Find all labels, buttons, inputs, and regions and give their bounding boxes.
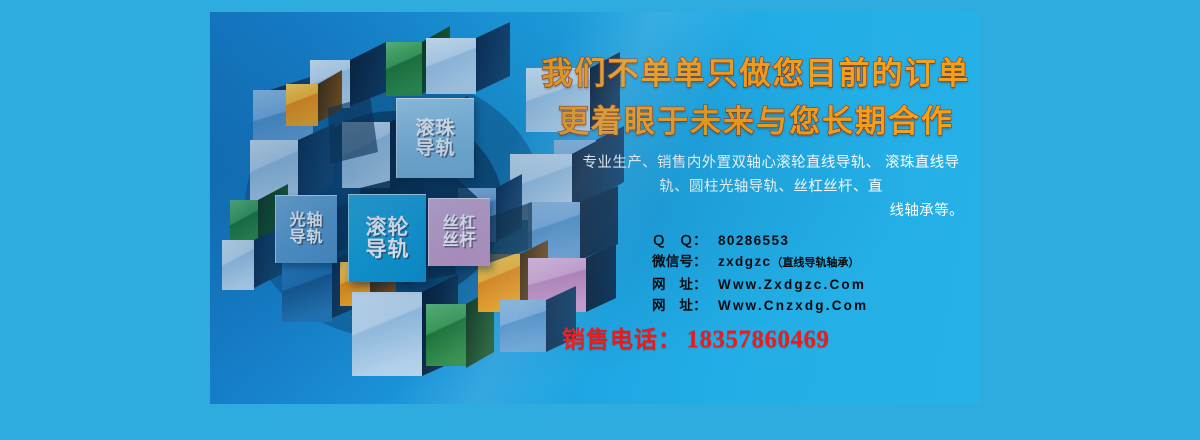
tile-label-line2: 导轨 [366, 239, 410, 261]
tile-label-line1: 滚轮 [366, 217, 410, 239]
product-tile-sigang-sigan[interactable]: 丝杠 丝杆 [428, 198, 490, 266]
product-tile-gunzhu-daogui[interactable]: 滚珠 导轨 [396, 98, 474, 178]
contact-row-wechat: 微信号： zxdgzc （直线导轨轴承） [652, 251, 868, 274]
contact-label: 网 址： [652, 274, 718, 295]
contact-row-website-1: 网 址： Www.Zxdgzc.Com [652, 274, 868, 295]
sales-phone[interactable]: 销售电话： 18357860469 [562, 320, 829, 354]
tile-label-line1: 光轴 [289, 213, 323, 230]
tile-label-line2: 导轨 [415, 139, 455, 159]
website-url-2[interactable]: Www.Cnzxdg.Com [718, 295, 868, 316]
tile-label-line2: 丝杆 [442, 233, 476, 250]
sales-phone-label: 销售电话： [562, 326, 682, 352]
contact-label: 网 址： [652, 295, 718, 316]
description-line-3: 线轴承等。 [578, 200, 964, 224]
headline-line-1: 我们不单单只做您目前的订单 [540, 48, 972, 93]
qq-number[interactable]: 80286553 [718, 230, 789, 251]
contact-info-block: Ｑ Ｑ： 80286553 微信号： zxdgzc （直线导轨轴承） 网 址： … [652, 230, 868, 316]
wechat-note: （直线导轨轴承） [771, 253, 859, 274]
sales-phone-number[interactable]: 18357860469 [686, 326, 829, 353]
wechat-id[interactable]: zxdgzc [718, 251, 771, 272]
tile-label-line1: 丝杠 [442, 216, 476, 233]
product-tile-gunlun-daogui[interactable]: 滚轮 导轨 [348, 194, 426, 282]
contact-row-website-2: 网 址： Www.Cnzxdg.Com [652, 295, 868, 316]
contact-label: 微信号： [652, 251, 718, 272]
description-line-1: 专业生产、销售内外置双轴心滚轮直线导轨、 [583, 155, 881, 171]
contact-label: Ｑ Ｑ： [652, 230, 718, 251]
website-url-1[interactable]: Www.Zxdgzc.Com [718, 274, 866, 295]
banner-copy: 我们不单单只做您目前的订单 更着眼于未来与您长期合作 专业生产、销售内外置双轴心… [540, 12, 980, 404]
description-text: 专业生产、销售内外置双轴心滚轮直线导轨、 滚珠直线导轨、圆柱光轴导轨、丝杠丝杆、… [578, 152, 964, 224]
product-tile-guangzhou-daogui[interactable]: 光轴 导轨 [275, 195, 337, 263]
headline-line-2: 更着眼于未来与您长期合作 [540, 96, 972, 141]
tile-label-line1: 滚珠 [415, 119, 455, 139]
promo-banner: 滚珠 导轨 滚轮 导轨 光轴 导轨 丝杠 丝杆 我们不单单只做您目前的订单 更着… [210, 12, 980, 404]
tile-label-line2: 导轨 [289, 230, 323, 247]
contact-row-qq: Ｑ Ｑ： 80286553 [652, 230, 868, 251]
